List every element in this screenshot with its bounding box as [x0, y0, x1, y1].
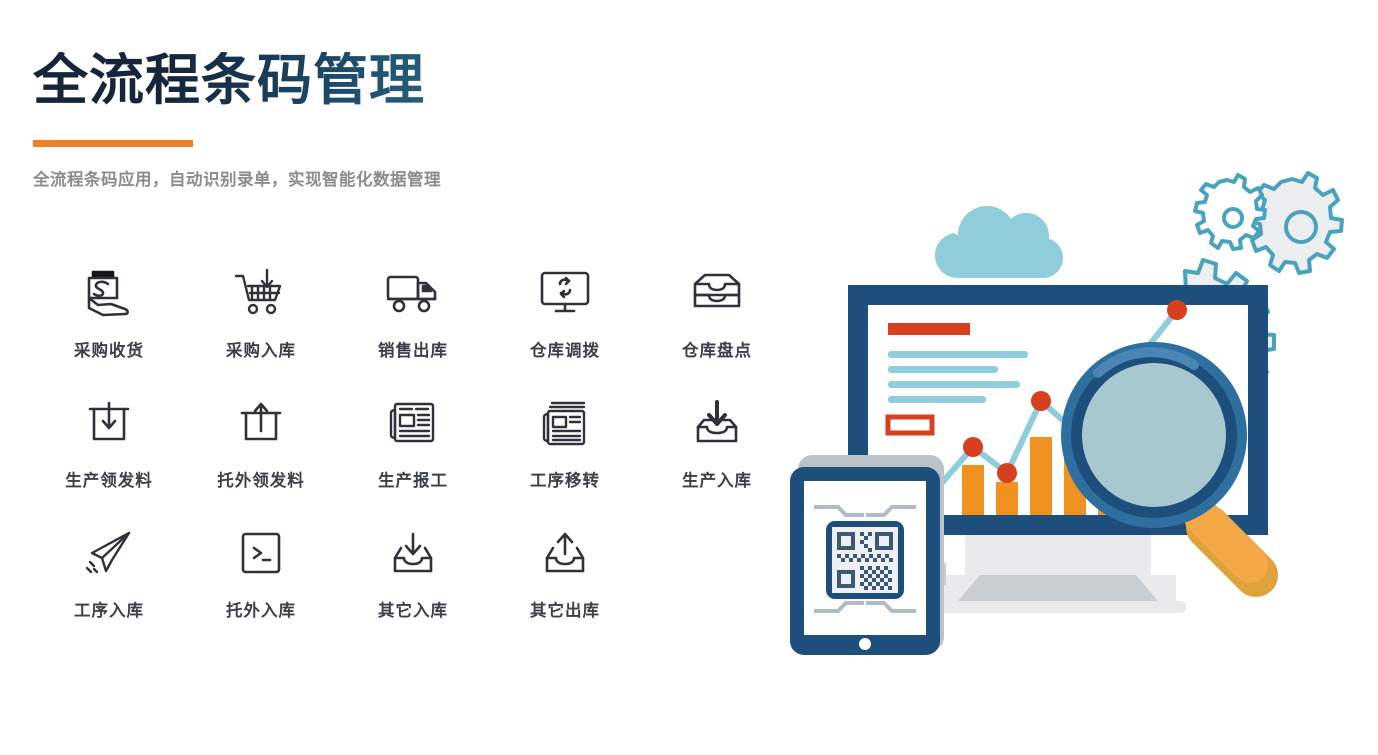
feature-item-production-issue[interactable]: 生产领发料: [33, 392, 185, 491]
cloud-icon: [935, 206, 1063, 278]
feature-item-production-instock[interactable]: 生产入库: [641, 392, 793, 491]
feature-item-warehouse-stocktake[interactable]: 仓库盘点: [641, 262, 793, 361]
gear-medium-icon: [1249, 173, 1342, 273]
feature-label: 仓库调拨: [530, 337, 600, 361]
feature-label: 工序移转: [530, 467, 600, 491]
box-arrow-out-icon: [236, 392, 286, 454]
feature-label: 其它入库: [378, 597, 448, 621]
tablet-qr-scanner: [790, 455, 946, 655]
feature-label: 托外领发料: [217, 467, 305, 491]
feature-label: 仓库盘点: [682, 337, 752, 361]
feature-item-purchase-receive[interactable]: 采购收货: [33, 262, 185, 361]
feature-label: 生产领发料: [65, 467, 153, 491]
gear-small-icon: [1195, 175, 1265, 249]
feature-item-other-outstock[interactable]: 其它出库: [489, 522, 641, 621]
feature-label: 生产报工: [378, 467, 448, 491]
feature-label: 生产入库: [682, 467, 752, 491]
box-arrow-in-icon: [84, 392, 134, 454]
feature-item-process-move[interactable]: 工序移转: [489, 392, 641, 491]
inbox-arrow-down-icon: [690, 392, 744, 454]
feature-item-other-instock[interactable]: 其它入库: [337, 522, 489, 621]
newspaper-report-icon: [386, 392, 440, 454]
delivery-truck-icon: [384, 262, 442, 324]
feature-item-outsource-issue[interactable]: 托外领发料: [185, 392, 337, 491]
paper-plane-icon: [82, 522, 136, 584]
newspaper-stack-icon: [538, 392, 592, 454]
terminal-prompt-icon: [237, 522, 285, 584]
feature-label: 其它出库: [530, 597, 600, 621]
feature-item-warehouse-transfer[interactable]: 仓库调拨: [489, 262, 641, 361]
feature-label: 销售出库: [378, 337, 448, 361]
feature-item-outsource-instock[interactable]: 托外入库: [185, 522, 337, 621]
feature-item-sales-outstock[interactable]: 销售出库: [337, 262, 489, 361]
page-subtitle: 全流程条码应用，自动识别录单，实现智能化数据管理: [33, 166, 441, 190]
feature-label: 托外入库: [226, 597, 296, 621]
promo-banner: 全流程条码管理 全流程条码应用，自动识别录单，实现智能化数据管理 采购收货: [0, 0, 1378, 755]
icon-row: 采购收货 采购入库: [33, 262, 793, 361]
feature-label: 工序入库: [74, 597, 144, 621]
shopping-cart-down-arrow-icon: [232, 262, 290, 324]
title-accent-rule: [33, 140, 193, 147]
feature-label: 采购入库: [226, 337, 296, 361]
tray-arrow-down-icon: [386, 522, 440, 584]
hand-receive-box-icon: [81, 262, 137, 324]
feature-item-production-report[interactable]: 生产报工: [337, 392, 489, 491]
stacked-trays-icon: [689, 262, 745, 324]
header: 全流程条码管理 全流程条码应用，自动识别录单，实现智能化数据管理: [33, 52, 673, 110]
monitor-transfer-icon: [538, 262, 592, 324]
page-title: 全流程条码管理: [33, 52, 673, 110]
feature-item-purchase-instock[interactable]: 采购入库: [185, 262, 337, 361]
barcode-analytics-illustration: [780, 155, 1378, 675]
icon-row: 生产领发料 托外领发料: [33, 392, 793, 491]
feature-item-process-instock[interactable]: 工序入库: [33, 522, 185, 621]
icon-row: 工序入库 托外入库: [33, 522, 793, 621]
feature-label: 采购收货: [74, 337, 144, 361]
feature-icon-grid: 采购收货 采购入库: [33, 262, 793, 652]
tray-arrow-up-icon: [538, 522, 592, 584]
